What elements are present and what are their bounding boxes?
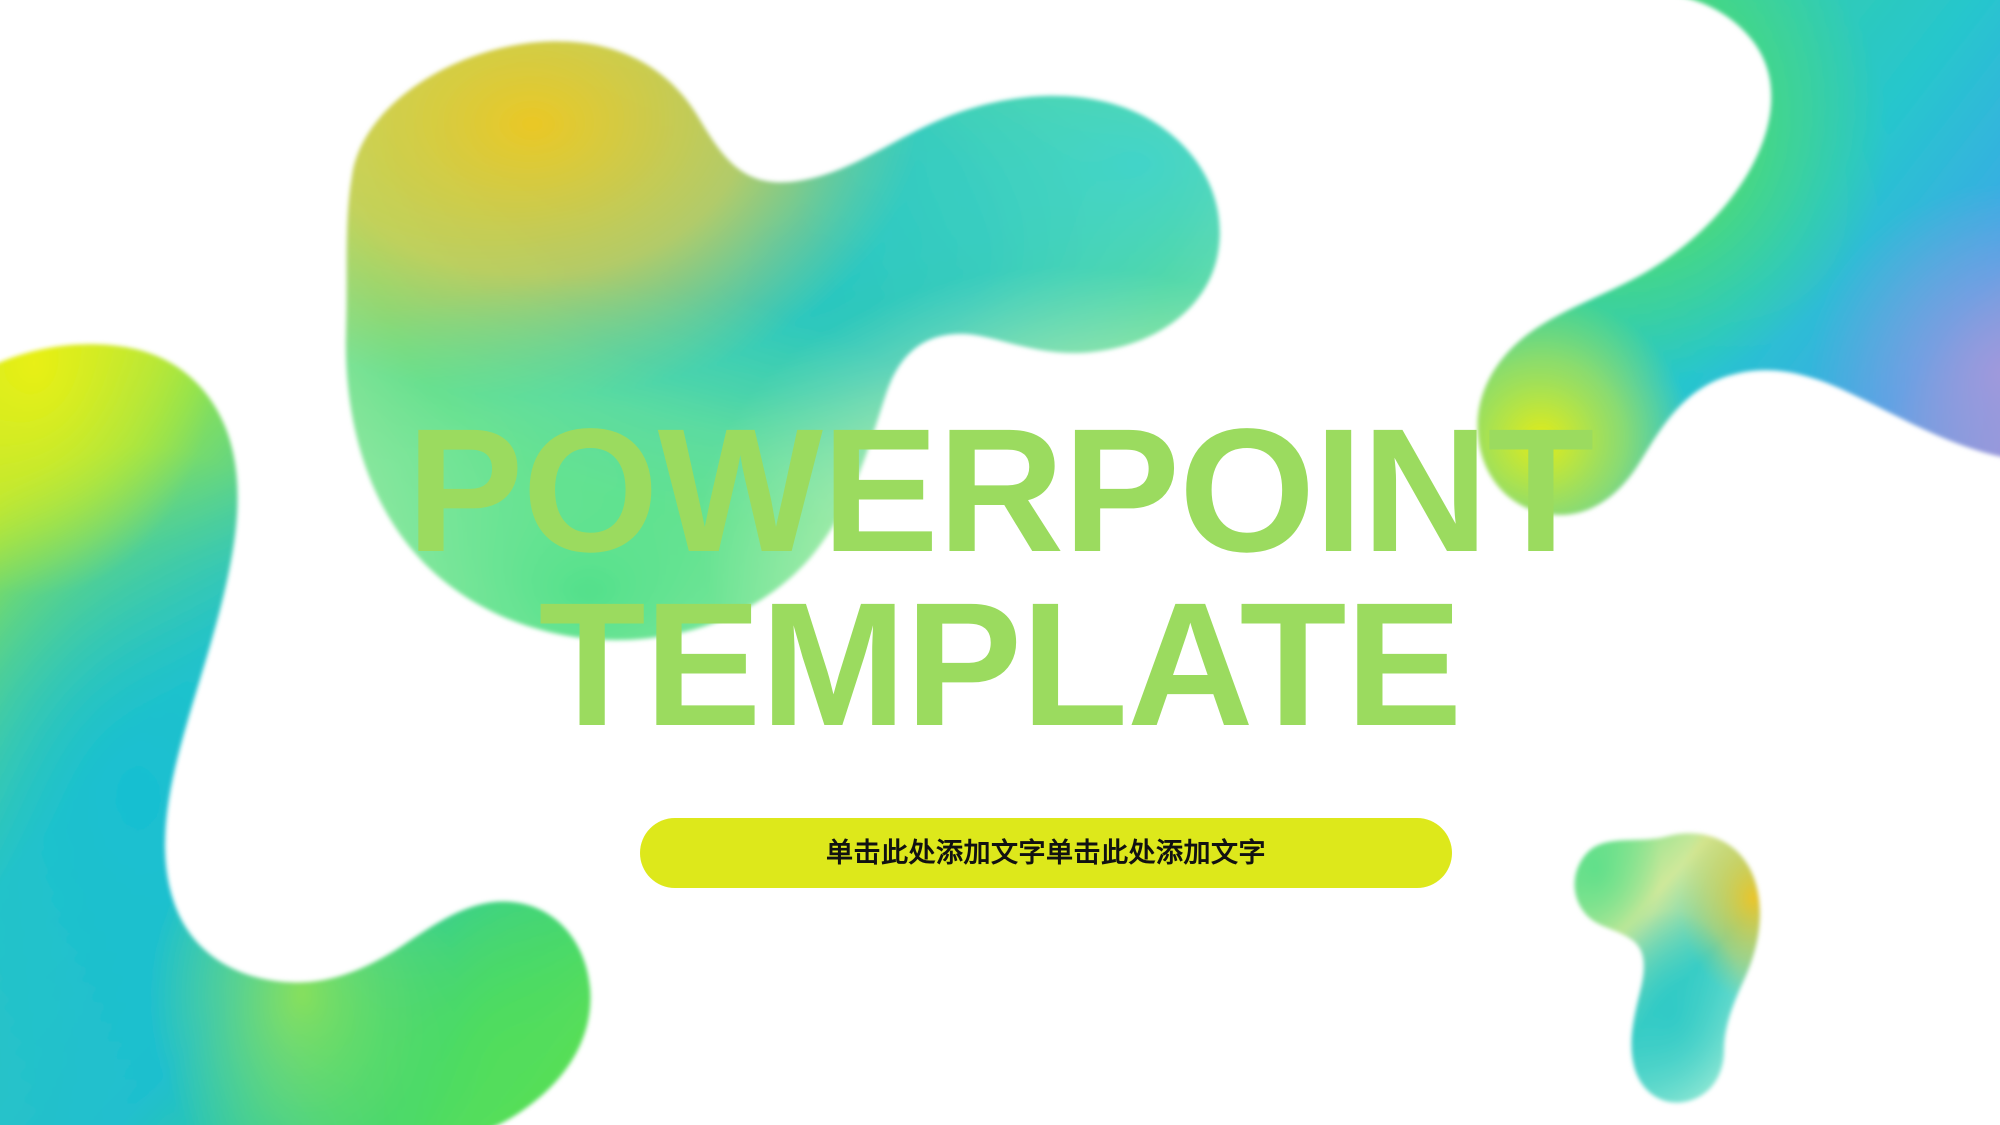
slide-canvas: POWERPOINT TEMPLATE 单击此处添加文字单击此处添加文字 [0, 0, 2000, 1125]
subtitle-pill[interactable]: 单击此处添加文字单击此处添加文字 [640, 818, 1452, 888]
blob-bottom-right [1560, 820, 1780, 1120]
title-line-secondary: TEMPLATE [5, 578, 1995, 752]
slide-title: POWERPOINT TEMPLATE [0, 404, 2000, 752]
subtitle-placeholder-text: 单击此处添加文字单击此处添加文字 [826, 840, 1266, 867]
title-line-primary: POWERPOINT [5, 404, 1995, 578]
